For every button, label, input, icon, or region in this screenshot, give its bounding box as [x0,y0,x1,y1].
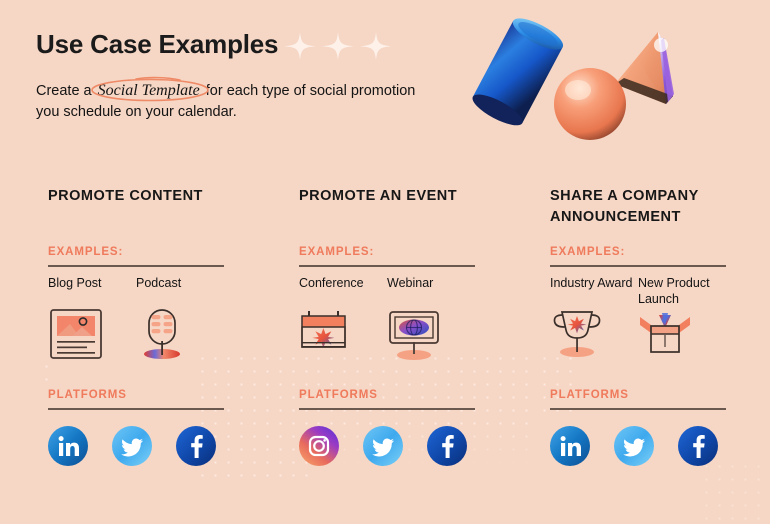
page-title: Use Case Examples [36,30,476,59]
trophy-icon [550,308,638,364]
examples-row: Blog Post Podcast [48,276,224,364]
example-item: Podcast [136,276,224,364]
subtitle: Create a Social Template for each type o… [36,79,436,123]
column-promote-event: PROMOTE AN EVENT EXAMPLES: Conference [299,186,475,364]
subtitle-text-before: Create a [36,83,96,99]
article-document-icon [48,308,136,364]
dot-texture [700,460,770,524]
divider [299,408,475,410]
platforms-label: PLATFORMS [299,389,378,401]
platform-icons [299,426,467,466]
linkedin-icon[interactable] [48,426,88,466]
divider [48,408,224,410]
divider [550,408,726,410]
linkedin-icon[interactable] [550,426,590,466]
example-item: Industry Award [550,276,638,365]
examples-label: EXAMPLES: [299,246,475,258]
facebook-icon[interactable] [176,426,216,466]
instagram-icon[interactable] [299,426,339,466]
column-title: PROMOTE AN EVENT [299,186,475,228]
example-item: Blog Post [48,276,136,364]
highlighted-term: Social Template [96,82,202,99]
examples-label: EXAMPLES: [48,246,224,258]
example-item: Webinar [387,276,475,364]
platform-icons [550,426,718,466]
microphone-icon [136,308,224,364]
sparkle-icon [284,32,392,76]
example-label: New Product Launch [638,276,726,307]
example-item: Conference [299,276,387,364]
divider [550,265,726,267]
twitter-icon[interactable] [614,426,654,466]
platforms-label: PLATFORMS [48,389,127,401]
facebook-icon[interactable] [678,426,718,466]
example-label: Blog Post [48,276,136,306]
column-title: PROMOTE CONTENT [48,186,224,228]
examples-row: Conference Webinar [299,276,475,364]
divider [48,265,224,267]
example-label: Webinar [387,276,475,306]
example-label: Conference [299,276,387,306]
platforms-label: PLATFORMS [550,389,629,401]
example-label: Industry Award [550,276,638,306]
examples-label: EXAMPLES: [550,246,726,258]
decorative-3d-shapes [468,12,758,144]
platform-icons [48,426,216,466]
examples-row: Industry Award New Product Launch [550,276,726,365]
sphere-shape [554,68,626,140]
column-title: SHARE A COMPANY ANNOUNCEMENT [550,186,726,228]
twitter-icon[interactable] [363,426,403,466]
header: Use Case Examples Create a Social Templa… [36,30,476,123]
column-company-announcement: SHARE A COMPANY ANNOUNCEMENT EXAMPLES: I… [550,186,726,365]
calendar-star-icon [299,308,387,364]
highlighted-term-text: Social Template [98,82,200,99]
example-label: Podcast [136,276,224,306]
facebook-icon[interactable] [427,426,467,466]
divider [299,265,475,267]
monitor-globe-icon [387,308,475,364]
example-item: New Product Launch [638,276,726,365]
cylinder-shape [469,12,568,131]
infographic-page: Use Case Examples Create a Social Templa… [0,0,770,524]
column-promote-content: PROMOTE CONTENT EXAMPLES: Blog Post [48,186,224,364]
open-box-icon [638,309,726,365]
twitter-icon[interactable] [112,426,152,466]
